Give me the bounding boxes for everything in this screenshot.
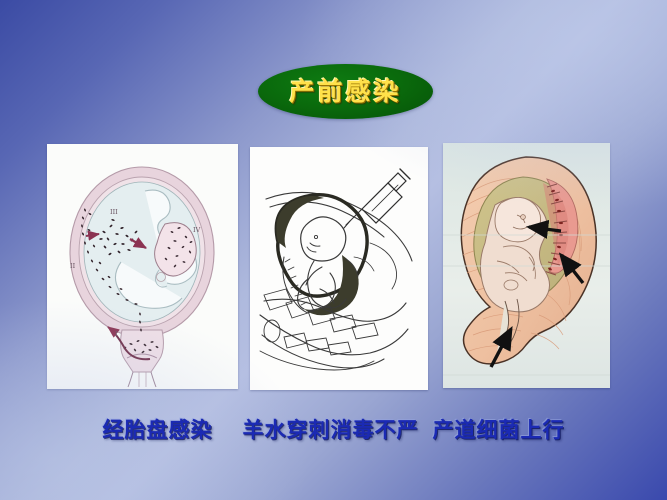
- label-i: I: [115, 330, 118, 338]
- label-ii: II: [70, 262, 76, 270]
- caption-amniocentesis: 羊水穿刺消毒不严: [243, 414, 419, 444]
- caption-ascending: 产道细菌上行: [433, 414, 565, 444]
- image-panel-transplacental-infection: III IV II I: [47, 144, 238, 389]
- image-panel-ascending-infection: [443, 143, 610, 388]
- caption-row: 经胎盘感染 羊水穿刺消毒不严 产道细菌上行: [0, 414, 667, 444]
- label-iv: IV: [193, 226, 201, 234]
- caption-transplacental: 经胎盘感染: [103, 414, 213, 444]
- amniocentesis-diagram: [250, 147, 428, 390]
- label-iii: III: [110, 208, 118, 216]
- page-title: 产前感染: [289, 79, 401, 104]
- transplacental-infection-diagram: III IV II I: [47, 144, 238, 389]
- image-panel-amniocentesis: [250, 147, 428, 390]
- ascending-infection-illustration: [443, 143, 610, 388]
- title-ellipse-shape: 产前感染: [258, 64, 433, 119]
- slide-canvas: 产前感染: [0, 0, 667, 500]
